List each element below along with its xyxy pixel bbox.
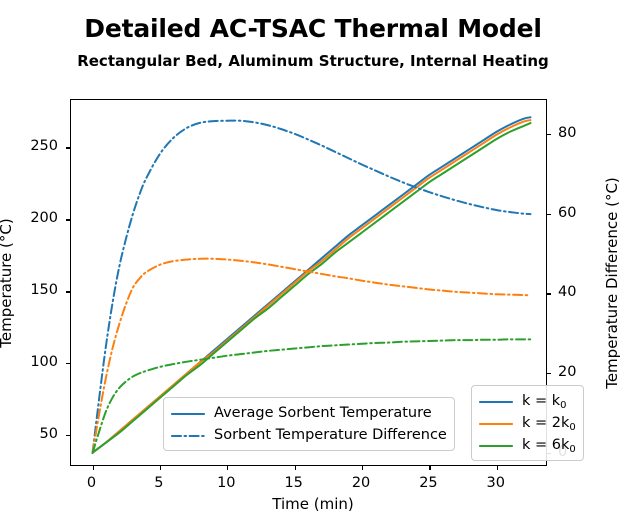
y-ticklabel-left: 100 [0,354,58,370]
x-ticklabel: 5 [154,475,163,491]
legend-label: Sorbent Temperature Difference [214,428,447,443]
y-axis-right-title: Temperature Difference (°C) [603,177,621,389]
y-tick-right [546,293,551,294]
legend-entry[interactable]: k = 6k0 [479,434,576,456]
y-tick-left [66,219,71,220]
legend-swatch [479,394,513,408]
x-tick [295,465,296,470]
y-ticklabel-right: 60 [558,205,576,221]
x-axis-title: Time (min) [0,495,626,513]
y-tick-left [66,435,71,436]
legend-label: k = k0 [522,394,567,409]
x-ticklabel: 10 [217,475,235,491]
y-tick-left [66,363,71,364]
x-tick [160,465,161,470]
legend-swatch [479,438,513,452]
y-ticklabel-left: 150 [0,282,58,298]
y-tick-left [66,147,71,148]
x-ticklabel: 20 [352,475,370,491]
x-ticklabel: 25 [419,475,437,491]
x-tick [93,465,94,470]
x-tick [429,465,430,470]
legend-entry[interactable]: k = 2k0 [479,412,576,434]
y-ticklabel-left: 50 [0,426,58,442]
legend-swatch [479,416,513,430]
y-ticklabel-right: 80 [558,125,576,141]
legend-label: k = 2k0 [522,416,576,431]
legend-swatch [171,428,205,442]
legend-entry[interactable]: Average Sorbent Temperature [171,402,447,424]
y-ticklabel-right: 40 [558,284,576,300]
x-tick [497,465,498,470]
x-tick [362,465,363,470]
chart-subtitle: Rectangular Bed, Aluminum Structure, Int… [0,52,626,70]
x-ticklabel: 15 [284,475,302,491]
x-ticklabel: 30 [487,475,505,491]
legend-swatch [171,406,205,420]
y-tick-left [66,291,71,292]
legend-label: Average Sorbent Temperature [214,406,432,421]
legend-linestyle[interactable]: Average Sorbent TemperatureSorbent Tempe… [163,397,455,451]
y-ticklabel-right: 20 [558,364,576,380]
y-tick-right [546,373,551,374]
legend-entry[interactable]: k = k0 [479,390,576,412]
y-tick-right [546,214,551,215]
figure: Detailed AC-TSAC Thermal Model Rectangul… [0,0,626,524]
y-ticklabel-left: 250 [0,138,58,154]
chart-title: Detailed AC-TSAC Thermal Model [0,14,626,43]
x-tick [227,465,228,470]
legend-conductivity[interactable]: k = k0k = 2k0k = 6k0 [471,385,584,461]
y-ticklabel-left: 200 [0,210,58,226]
legend-label: k = 6k0 [522,438,576,453]
x-ticklabel: 0 [87,475,96,491]
y-tick-right [546,134,551,135]
legend-entry[interactable]: Sorbent Temperature Difference [171,424,447,446]
